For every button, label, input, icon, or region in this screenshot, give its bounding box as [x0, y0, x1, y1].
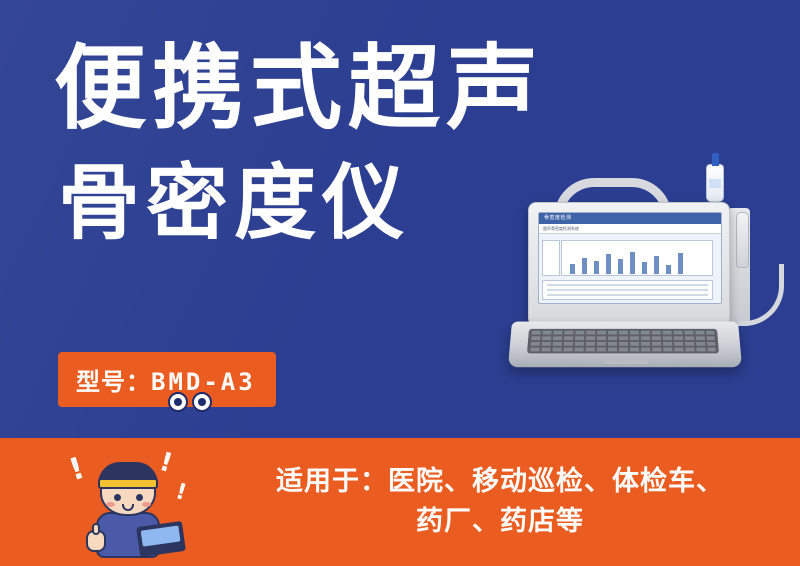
mascot-laptop-icon — [136, 521, 186, 557]
screen-data-strip — [542, 280, 713, 300]
mascot-eye-right — [136, 494, 143, 501]
screen-chart-bar — [594, 261, 599, 274]
mascot-cheek-left — [106, 502, 115, 507]
banner-line-2: 药厂、药店等 — [230, 502, 770, 542]
screen-chart-bar — [618, 259, 623, 274]
headline-line-2: 骨密度仪 — [58, 158, 714, 250]
ultrasound-probe — [736, 212, 749, 268]
banner-text: 适用于：医院、移动巡检、体检车、 药厂、药店等 — [230, 462, 770, 542]
probe-cable — [738, 264, 784, 326]
exclamation-icon: ! — [173, 479, 190, 506]
eye-right-icon — [192, 392, 212, 412]
screen-chart-bar — [666, 265, 671, 274]
screen-chart-bar — [606, 254, 611, 274]
poster-root: 便携式超声 骨密度仪 型号：BMD-A3 骨密度检测 超声骨密度检测系统 — [0, 0, 800, 566]
mascot-eye-left — [114, 494, 121, 501]
model-badge: 型号：BMD-A3 — [58, 352, 276, 407]
device-keyboard — [527, 329, 719, 353]
eyes-decoration-icon — [168, 392, 212, 414]
model-label: 型号： — [76, 368, 151, 396]
screen-chart-bar — [582, 258, 587, 274]
mascot-cheek-right — [142, 502, 151, 507]
exclamation-icon: ! — [156, 447, 176, 479]
screen-chart-bar — [642, 262, 647, 274]
exclamation-icon: ! — [65, 451, 89, 489]
screen-chart-bar — [654, 256, 659, 274]
page-title: 便携式超声 骨密度仪 — [54, 40, 714, 250]
screen-chart-bar — [678, 253, 683, 274]
screen-chart-bar — [570, 264, 575, 274]
banner-line-1: 适用于：医院、移动巡检、体检车、 — [230, 462, 770, 502]
mascot-thumbs-up-icon — [86, 530, 106, 552]
headline-line-1: 便携式超声 — [54, 40, 714, 138]
device-trackpad — [604, 356, 648, 364]
eye-left-icon — [168, 392, 188, 412]
mascot-illustration: ! ! ! — [64, 446, 196, 564]
screen-chart-bar — [630, 252, 635, 274]
mascot-headband — [98, 478, 158, 489]
